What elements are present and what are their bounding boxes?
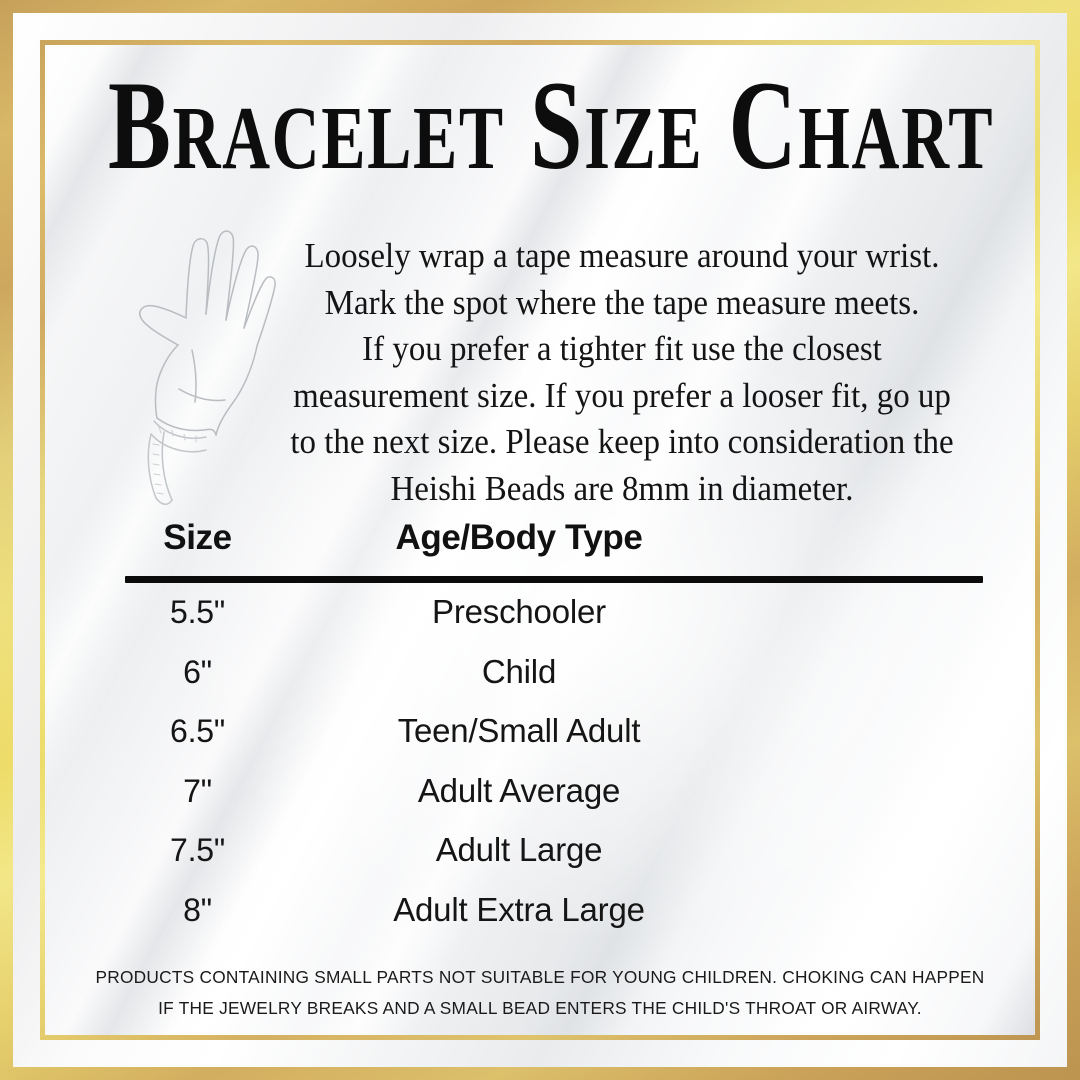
cell-age-body-type: Preschooler <box>270 593 983 631</box>
column-header-size: Size <box>125 518 270 558</box>
size-table: Size Age/Body Type 5.5" Preschooler 6" C… <box>125 518 983 950</box>
cell-size: 8" <box>125 892 270 929</box>
instructions-paragraph: Loosely wrap a tape measure around your … <box>265 233 979 512</box>
table-row: 7.5" Adult Large <box>125 831 983 891</box>
instructions-line: Mark the spot where the tape measure mee… <box>265 280 979 327</box>
bracelet-size-chart-poster: Bracelet Size Chart <box>0 0 1080 1080</box>
safety-warning: PRODUCTS CONTAINING SMALL PARTS NOT SUIT… <box>70 962 1010 1024</box>
safety-warning-line: PRODUCTS CONTAINING SMALL PARTS NOT SUIT… <box>70 962 1010 993</box>
cell-age-body-type: Teen/Small Adult <box>270 712 983 750</box>
safety-warning-line: IF THE JEWELRY BREAKS AND A SMALL BEAD E… <box>70 993 1010 1024</box>
table-row: 8" Adult Extra Large <box>125 891 983 951</box>
table-header-row: Size Age/Body Type <box>125 518 983 570</box>
instructions-line: Loosely wrap a tape measure around your … <box>265 233 979 280</box>
table-body: 5.5" Preschooler 6" Child 6.5" Teen/Smal… <box>125 593 983 950</box>
cell-size: 6" <box>125 654 270 691</box>
column-header-age-body-type: Age/Body Type <box>270 518 983 558</box>
instructions-line: If you prefer a tighter fit use the clos… <box>265 326 979 373</box>
table-header-rule <box>125 576 983 583</box>
instructions-line: measurement size. If you prefer a looser… <box>265 373 979 420</box>
cell-age-body-type: Adult Average <box>270 772 983 810</box>
page-title: Bracelet Size Chart <box>108 62 972 189</box>
cell-size: 6.5" <box>125 713 270 750</box>
table-row: 7" Adult Average <box>125 772 983 832</box>
table-row: 6" Child <box>125 653 983 713</box>
cell-age-body-type: Adult Large <box>270 831 983 869</box>
cell-size: 7" <box>125 773 270 810</box>
hand-with-tape-measure-illustration <box>126 222 286 512</box>
table-row: 6.5" Teen/Small Adult <box>125 712 983 772</box>
cell-age-body-type: Child <box>270 653 983 691</box>
cell-size: 7.5" <box>125 832 270 869</box>
table-row: 5.5" Preschooler <box>125 593 983 653</box>
instructions-line: Heishi Beads are 8mm in diameter. <box>265 466 979 513</box>
cell-age-body-type: Adult Extra Large <box>270 891 983 929</box>
instructions-line: to the next size. Please keep into consi… <box>265 419 979 466</box>
cell-size: 5.5" <box>125 594 270 631</box>
